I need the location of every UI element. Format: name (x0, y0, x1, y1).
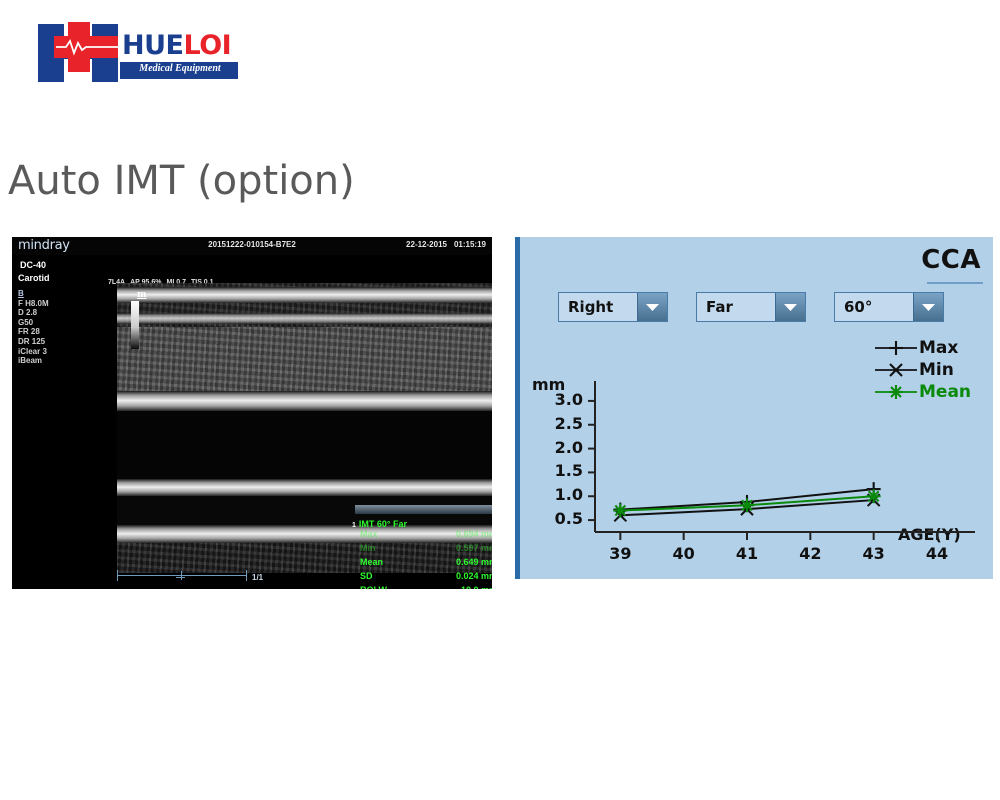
y-axis-tick-label: 1.5 (541, 461, 583, 480)
measurement-value: 0.649 mm (456, 557, 492, 567)
frame-index-label: 1/1 (252, 573, 263, 582)
measurement-row: Min0.597 mm (352, 543, 492, 557)
imaging-param: B (18, 289, 78, 299)
measurement-row: ROI W10.0 mm (352, 585, 492, 589)
measurement-label: Min (360, 543, 376, 553)
measurement-label: Mean (360, 557, 383, 567)
measurement-value: 0.694 mm (456, 529, 492, 539)
ultrasound-screen: mindray 20151222-010154-B7E2 22-12-20150… (12, 237, 492, 589)
logo-word-loi: LOI (183, 30, 231, 61)
imaging-param: iBeam (18, 356, 78, 366)
measurement-label: Max (360, 529, 378, 539)
x-axis-tick-label: 42 (793, 544, 827, 563)
imaging-param: FR 28 (18, 327, 78, 337)
datetime-label: 22-12-201501:15:19 (399, 240, 486, 249)
imaging-param: G50 (18, 318, 78, 328)
y-axis-tick-label: 1.0 (541, 485, 583, 504)
measurement-row: SD0.024 mm (352, 571, 492, 585)
imaging-param: F H8.0M (18, 299, 78, 309)
imaging-param: iClear 3 (18, 347, 78, 357)
data-point-mean-39 (613, 504, 627, 518)
device-model-label: DC-40 (20, 260, 46, 270)
imaging-parameter-list: BF H8.0MD 2.8G50FR 28DR 125iClear 3iBeam (18, 289, 78, 366)
measurement-index: 1 (352, 522, 356, 529)
data-point-mean-41 (740, 498, 754, 512)
measurement-value: 0.024 mm (456, 571, 492, 581)
data-point-mean-43 (867, 489, 881, 503)
measurement-title: IMT 60° Far (359, 519, 407, 529)
imt-measurement-panel: 1IMT 60° Far Max0.694 mmMin0.597 mmMean0… (352, 519, 492, 589)
logo-wordmark: HUELOI (122, 30, 231, 61)
y-axis-tick-label: 2.0 (541, 438, 583, 457)
measurement-row: Mean0.649 mm (352, 557, 492, 571)
ultrasound-header-bar: mindray 20151222-010154-B7E2 22-12-20150… (12, 237, 492, 255)
measurement-row: Max0.694 mm (352, 529, 492, 543)
measurement-label: SD (360, 571, 373, 581)
x-axis-tick-label: 41 (730, 544, 764, 563)
imt-trend-plot (520, 237, 998, 579)
page-title: Auto IMT (option) (8, 158, 355, 204)
measurement-label: ROI W (360, 585, 387, 589)
x-axis-tick-label: 39 (603, 544, 637, 563)
imt-trend-chart-panel: CCA Right Far 60° MaxMinMean mm AGE(Y) 0… (515, 237, 993, 579)
measurement-panel-header-bar (355, 505, 492, 514)
x-axis-tick-label: 44 (920, 544, 954, 563)
ecg-waveform-icon (56, 38, 118, 56)
company-logo: HUELOI Medical Equipment (38, 22, 238, 84)
logo-tagline: Medical Equipment (124, 63, 236, 74)
measurement-header: 1IMT 60° Far (352, 519, 492, 529)
time-label: 01:15:19 (454, 240, 486, 249)
y-axis-tick-label: 2.5 (541, 414, 583, 433)
x-axis-tick-label: 40 (667, 544, 701, 563)
grayscale-marker-icon: m (137, 290, 147, 300)
date-label: 22-12-2015 (406, 240, 447, 249)
measurement-value: 10.0 mm (461, 585, 492, 589)
grayscale-bar (131, 301, 139, 349)
imaging-param: DR 125 (18, 337, 78, 347)
x-axis-tick-label: 43 (857, 544, 891, 563)
y-axis-tick-label: 3.0 (541, 390, 583, 409)
measurement-value: 0.597 mm (456, 543, 492, 553)
exam-region-label: Carotid (18, 273, 50, 283)
y-axis-tick-label: 0.5 (541, 509, 583, 528)
logo-word-hue: HUE (122, 30, 183, 61)
depth-scale-bar (117, 569, 247, 581)
imaging-param: D 2.8 (18, 308, 78, 318)
